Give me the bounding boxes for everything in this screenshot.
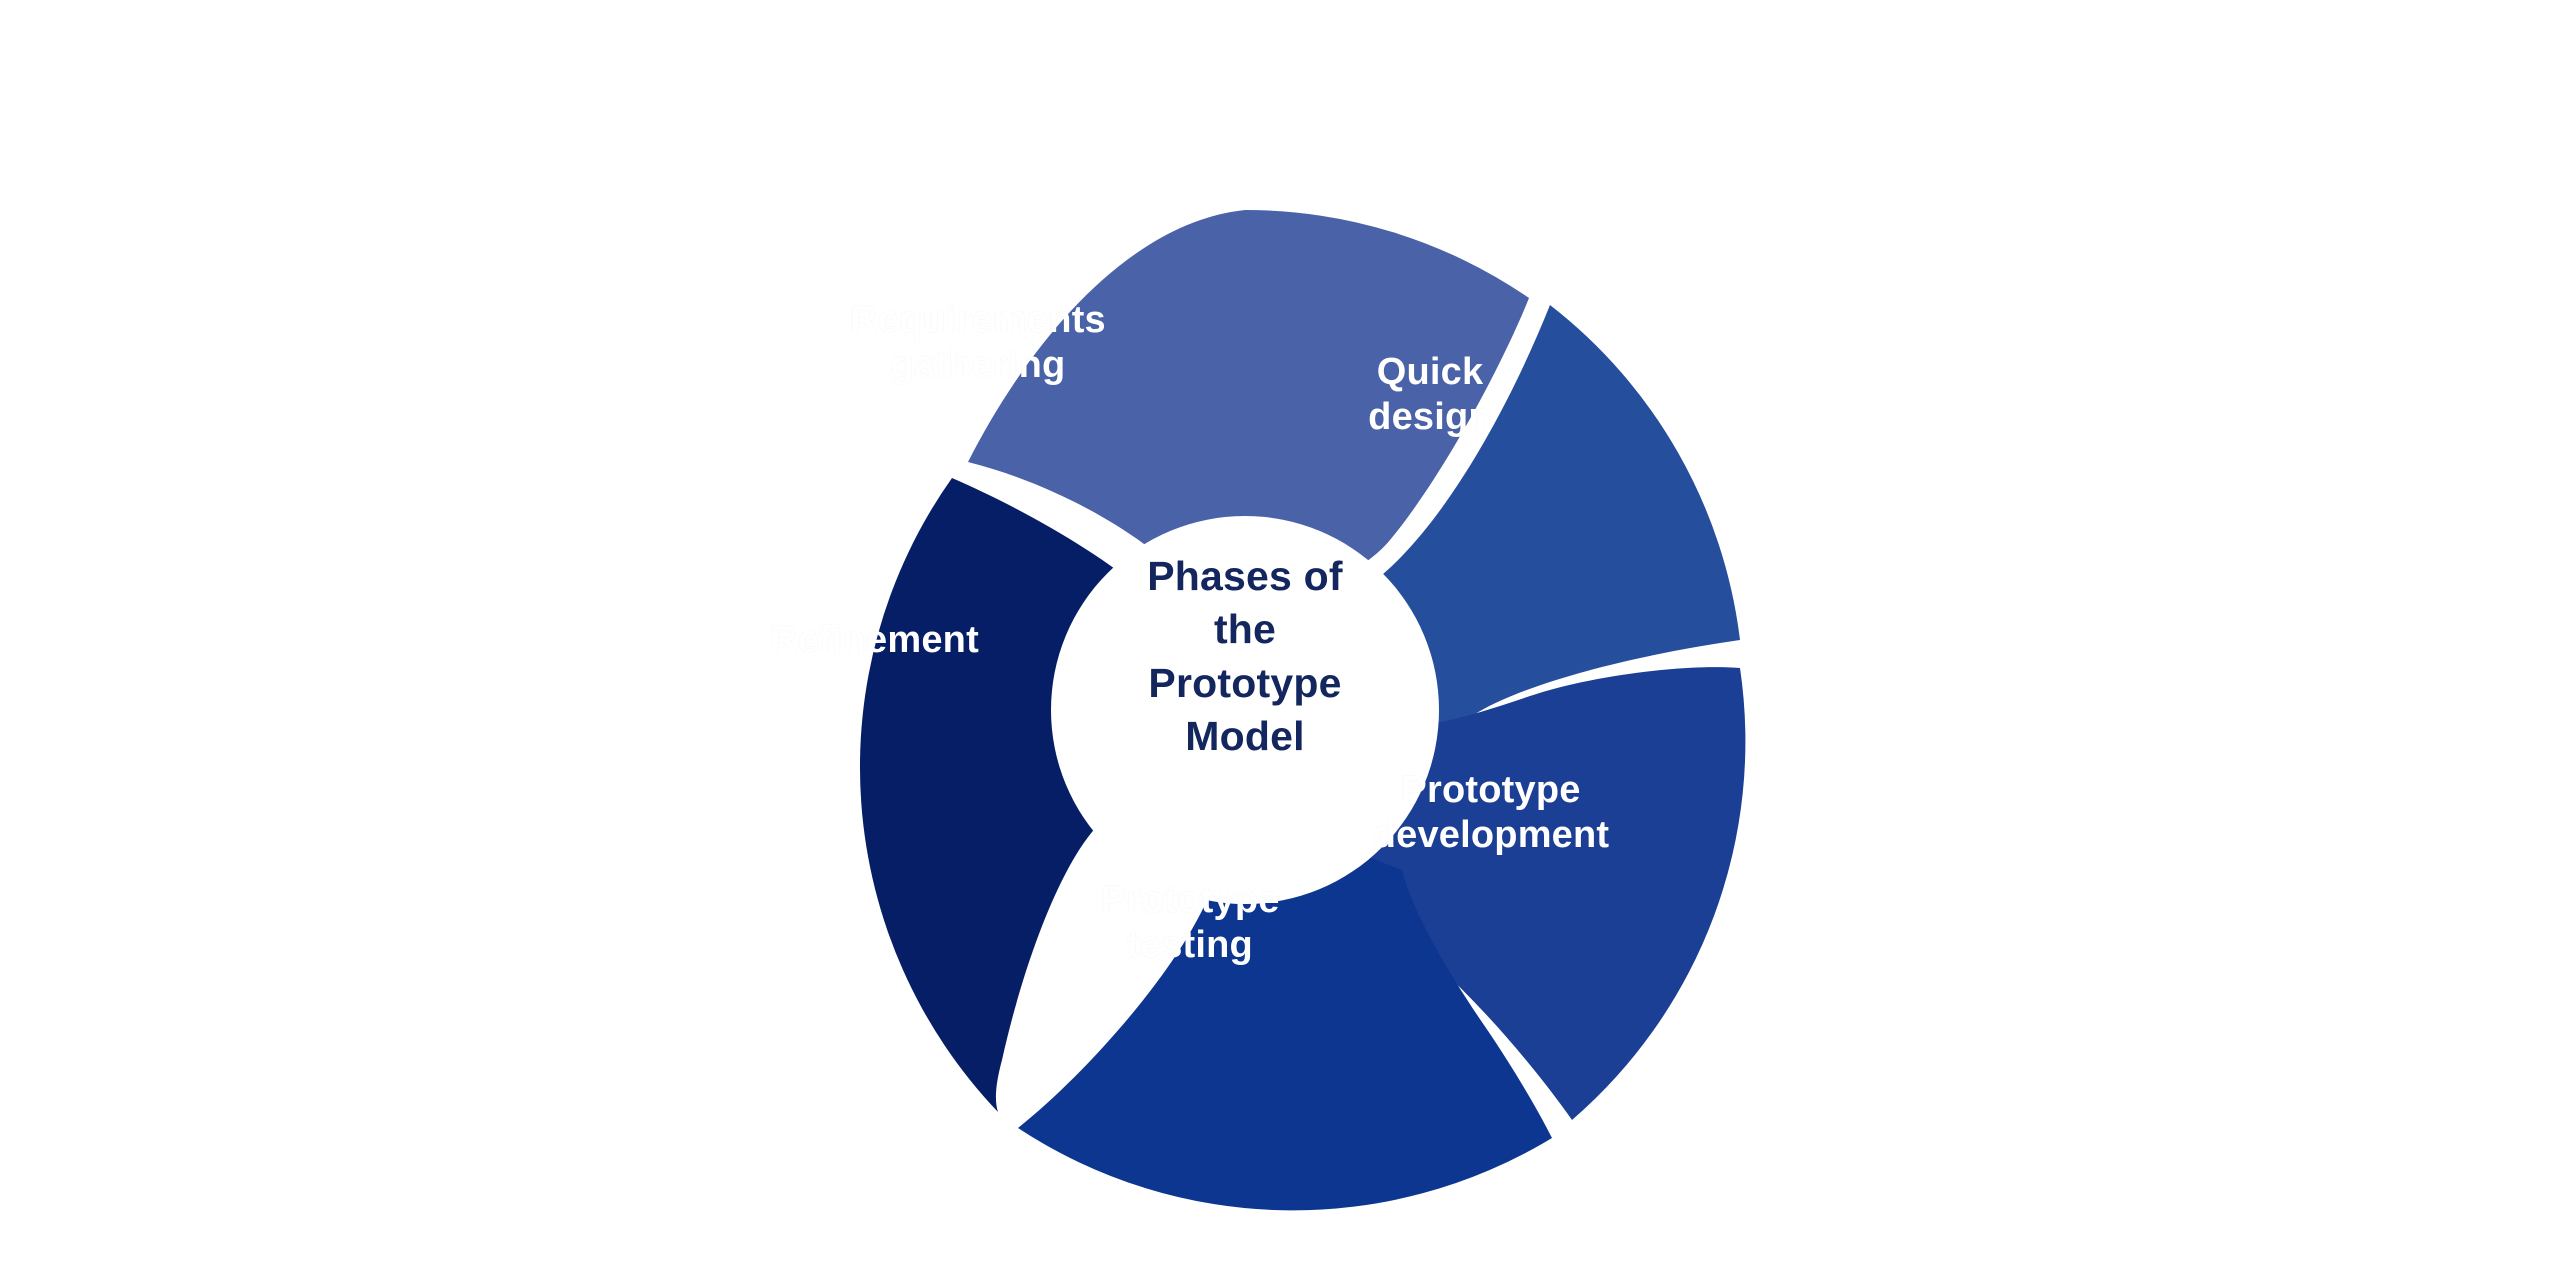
center-hub-title: Phases of the Prototype Model — [1065, 550, 1425, 763]
label-requirements-gathering: Requirements gathering — [798, 298, 1158, 388]
prototype-model-wheel: Requirements gathering Quick design Prot… — [740, 180, 1750, 1240]
label-prototype-development: Prototype development — [1316, 768, 1666, 858]
diagram-canvas: Requirements gathering Quick design Prot… — [0, 0, 2560, 1280]
label-refinement: Refinement — [770, 618, 1090, 663]
label-quick-design: Quick design — [1300, 350, 1560, 440]
label-prototype-testing: Prototype testing — [1030, 878, 1350, 968]
